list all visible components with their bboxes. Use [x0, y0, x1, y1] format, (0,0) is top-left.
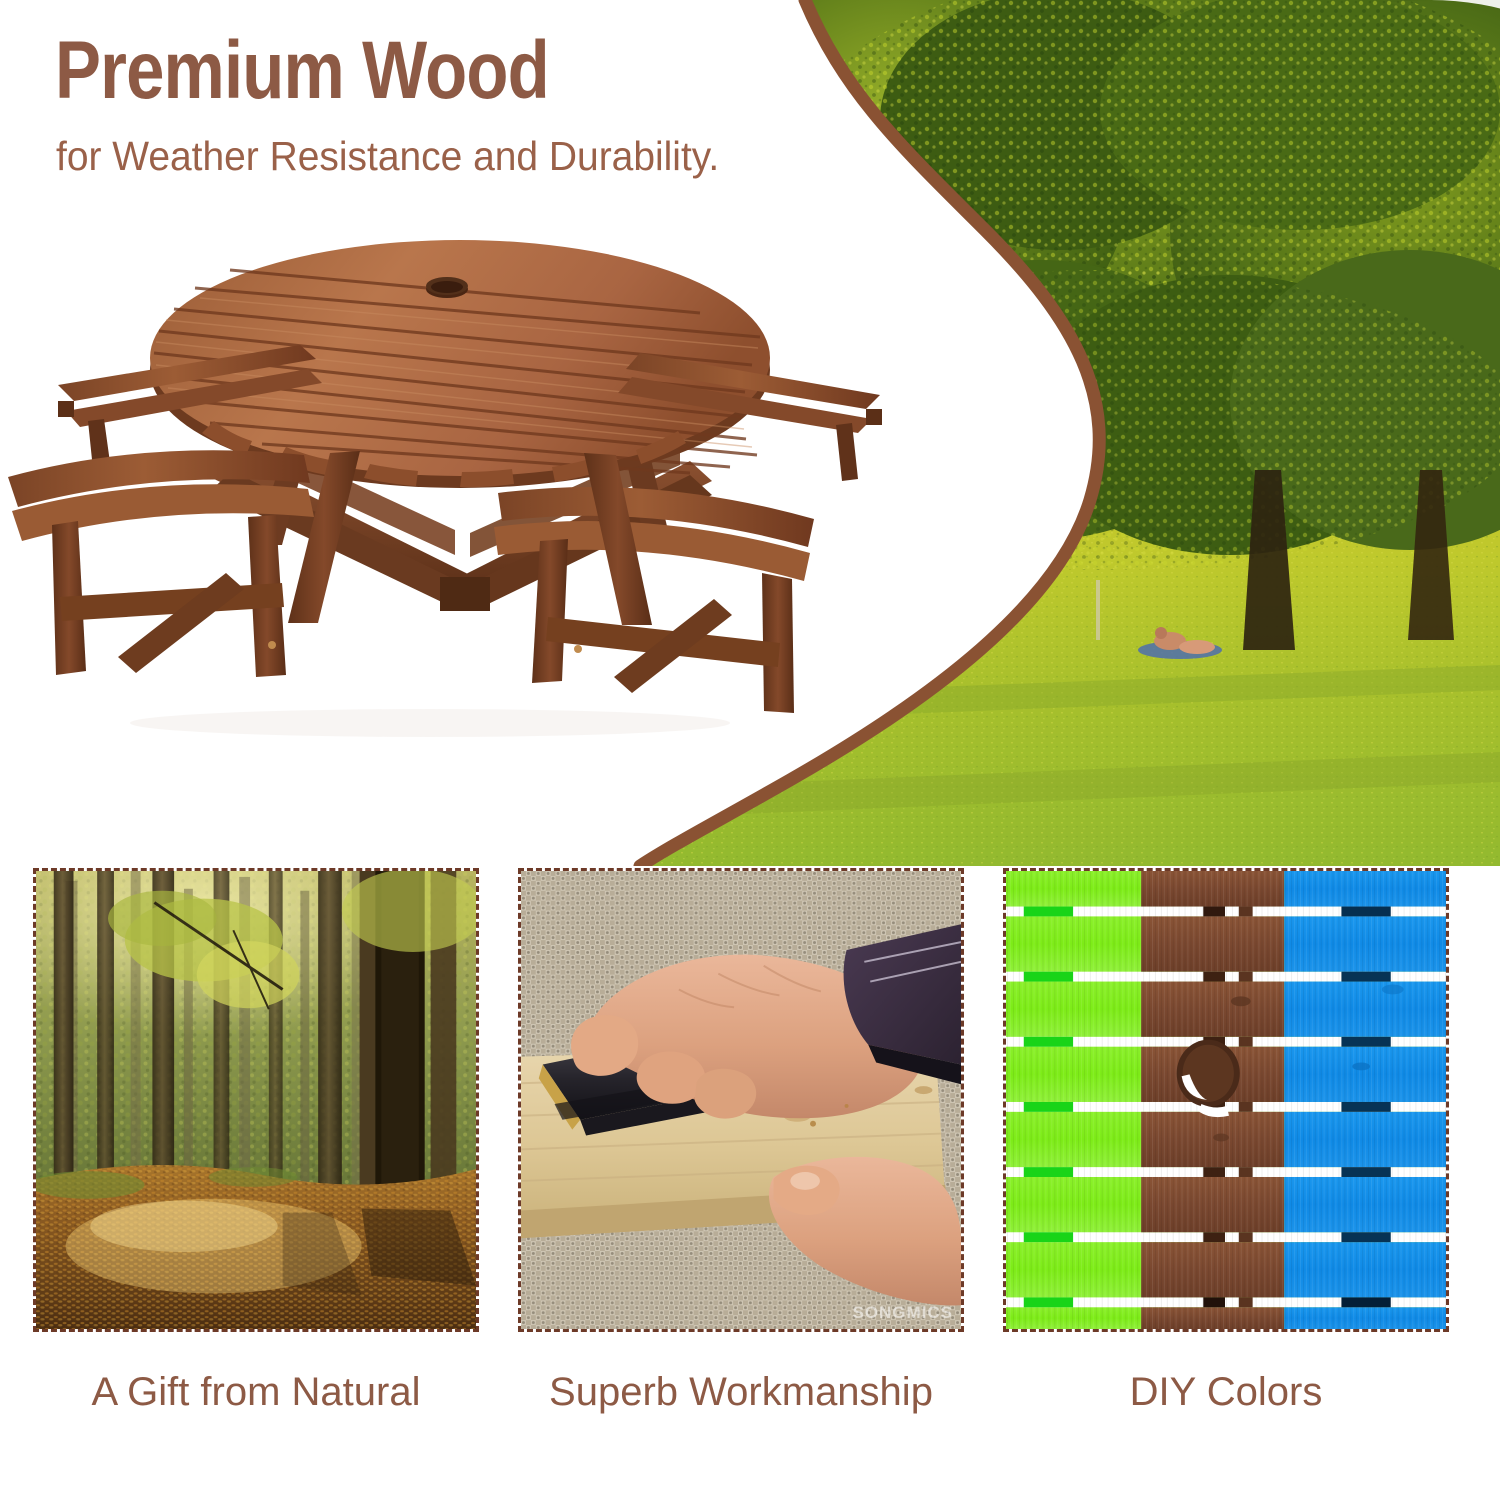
- poster-canvas: Premium Wood for Weather Resistance and …: [0, 0, 1500, 1500]
- caption-diy-colors: DIY Colors: [1003, 1368, 1449, 1416]
- page-subtitle: for Weather Resistance and Durability.: [56, 133, 719, 179]
- feature-panel-diy-colors: [1003, 868, 1449, 1332]
- caption-natural: A Gift from Natural: [33, 1368, 479, 1416]
- feature-panel-natural: [33, 868, 479, 1332]
- picnic-table-product-image: [0, 225, 920, 770]
- watermark: SONGMICS: [852, 1303, 953, 1323]
- caption-workmanship: Superb Workmanship: [518, 1368, 964, 1416]
- page-title: Premium Wood: [55, 28, 549, 114]
- feature-panel-workmanship: SONGMICS: [518, 868, 964, 1332]
